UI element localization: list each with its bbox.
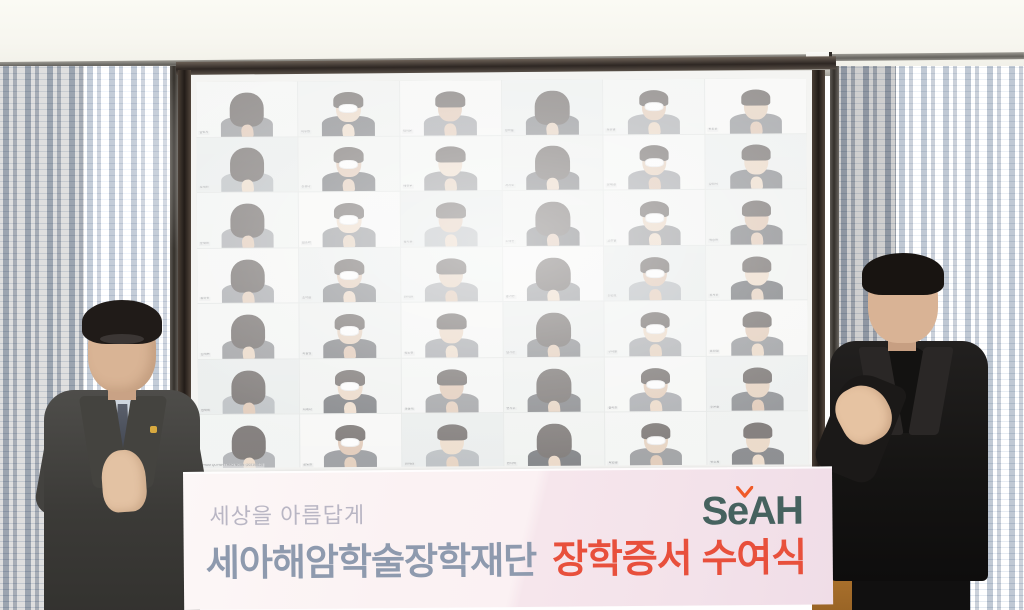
video-tile-participant bbox=[528, 424, 581, 468]
photo-scene: 김민지이수현박지은정하늘최준영한도윤오세진신유나배현우서지호문태경강민서윤채원임… bbox=[0, 0, 1024, 610]
video-tile: 황지훈 bbox=[400, 191, 501, 246]
video-tile-participant bbox=[426, 369, 479, 413]
video-tile-participant bbox=[324, 370, 377, 414]
video-tile: 변지수 bbox=[503, 357, 604, 412]
video-tile-name-label: 한도윤 bbox=[707, 127, 718, 131]
participant-hands bbox=[241, 291, 254, 304]
video-tile-name-label: 서지호 bbox=[504, 184, 515, 188]
participant-face-mask bbox=[646, 324, 665, 333]
video-tile-participant bbox=[221, 259, 274, 303]
video-tile-name-label: 안지완 bbox=[403, 296, 414, 300]
video-tile: 설하윤 bbox=[605, 357, 706, 412]
participant-hair bbox=[436, 91, 465, 107]
video-tile-participant bbox=[425, 313, 478, 357]
participant-hair bbox=[230, 259, 265, 293]
video-tile: 구자영 bbox=[605, 301, 706, 356]
participant-hair bbox=[231, 426, 266, 460]
video-tile: 최준영 bbox=[603, 79, 704, 134]
participant-hands bbox=[342, 179, 355, 192]
video-tile-name-label: 송가은 bbox=[505, 295, 516, 299]
video-tile-name-label: 남기준 bbox=[505, 351, 516, 355]
video-tile-participant bbox=[425, 202, 478, 246]
banner-organization: 세아해암학술장학재단 bbox=[206, 530, 537, 587]
video-tile: 강민서 bbox=[706, 134, 807, 189]
video-tile: 김민지 bbox=[196, 81, 297, 136]
video-tile-participant bbox=[730, 200, 783, 244]
video-tile-name-label: 노예린 bbox=[505, 240, 516, 244]
participant-hands bbox=[649, 344, 662, 357]
video-tile-participant bbox=[221, 204, 274, 248]
video-tile-participant bbox=[323, 314, 376, 358]
projection-screen: 김민지이수현박지은정하늘최준영한도윤오세진신유나배현우서지호문태경강민서윤채원임… bbox=[190, 70, 814, 478]
participant-hair bbox=[535, 91, 570, 125]
participant-hair bbox=[535, 202, 570, 236]
video-tile-participant bbox=[731, 312, 784, 356]
video-tile: 차예나 bbox=[300, 359, 401, 414]
participant-hair bbox=[537, 424, 572, 458]
video-tile: 엄태희 bbox=[198, 359, 299, 414]
video-tile-participant bbox=[424, 91, 477, 135]
video-tile-participant bbox=[425, 258, 478, 302]
caron-accent-icon bbox=[736, 486, 753, 498]
video-tile: 공도윤 bbox=[300, 414, 401, 469]
participant-hair bbox=[231, 315, 266, 349]
participant-face-mask bbox=[339, 104, 358, 113]
participant-face-mask bbox=[645, 158, 664, 167]
participant-hair bbox=[741, 145, 770, 161]
video-tile: 반소희 bbox=[707, 412, 808, 467]
video-tile-name-label: 김민지 bbox=[198, 131, 209, 135]
video-tile-participant bbox=[527, 257, 580, 301]
video-tile-participant bbox=[528, 368, 581, 412]
participant-hair bbox=[436, 147, 465, 163]
participant-hands bbox=[749, 121, 762, 134]
video-tile-name-label: 배현우 bbox=[402, 185, 413, 189]
participant-face-mask bbox=[645, 269, 664, 278]
video-tile: 표민정 bbox=[707, 301, 808, 356]
participant-hair bbox=[437, 369, 466, 385]
video-tile-name-label: 황지훈 bbox=[403, 240, 414, 244]
video-tile: 백승현 bbox=[706, 189, 807, 244]
participant-hair bbox=[742, 200, 771, 216]
video-tile-participant bbox=[222, 370, 275, 414]
participant-hair bbox=[742, 312, 771, 328]
participant-hands bbox=[750, 287, 763, 300]
video-tile-participant bbox=[323, 258, 376, 302]
banner-subtitle: 세상을 아름답게 bbox=[209, 497, 365, 530]
video-tile: 남기준 bbox=[503, 302, 604, 357]
participant-face-mask bbox=[647, 436, 666, 445]
video-tile: 마동석 bbox=[401, 358, 502, 413]
participant-hair bbox=[437, 314, 466, 330]
participant-hands bbox=[546, 122, 559, 135]
video-tile: 오세진 bbox=[196, 137, 297, 192]
video-tile-participant bbox=[629, 312, 682, 356]
participant-hair bbox=[535, 146, 570, 180]
participant-hands bbox=[546, 233, 559, 246]
video-tile-name-label: 하늘빛 bbox=[302, 352, 313, 356]
video-tile-participant bbox=[729, 89, 782, 133]
video-tile: 류서윤 bbox=[706, 245, 807, 300]
video-tile-name-label: 강민서 bbox=[708, 183, 719, 187]
video-tile: 진아라 bbox=[402, 414, 503, 469]
video-tile: 정하늘 bbox=[502, 79, 603, 134]
video-tile-participant bbox=[730, 256, 783, 300]
video-tile-participant bbox=[323, 203, 376, 247]
participant-hands bbox=[240, 124, 253, 137]
video-tile-name-label: 백승현 bbox=[708, 239, 719, 243]
video-tile-participant bbox=[526, 202, 579, 246]
video-tile-participant bbox=[732, 423, 785, 467]
participant-hands bbox=[648, 233, 661, 246]
participant-hair bbox=[743, 367, 772, 383]
seah-logo: SeAH bbox=[701, 489, 802, 535]
video-tile: 이수현 bbox=[298, 81, 399, 136]
video-tile-name-label: 주은총 bbox=[709, 405, 720, 409]
participant-hands bbox=[242, 346, 255, 359]
video-tile-name-label: 고은별 bbox=[606, 239, 617, 243]
banner-event-title: 장학증서 수여식 bbox=[552, 527, 806, 585]
video-tile: 조아름 bbox=[299, 247, 400, 302]
video-tile-participant bbox=[629, 368, 682, 412]
video-tile: PHAM QUYNH THAO NGAN (20210013) bbox=[198, 415, 299, 470]
participant-hands bbox=[648, 177, 661, 190]
video-tile-name-label: 구자영 bbox=[607, 350, 618, 354]
video-tile: 문태경 bbox=[604, 134, 705, 189]
participant-hair bbox=[436, 202, 465, 218]
participant-face-mask bbox=[646, 380, 665, 389]
chairman-lapel-pin bbox=[150, 426, 157, 433]
video-tile-name-label: 차예나 bbox=[302, 408, 313, 412]
representative-hair bbox=[862, 253, 944, 295]
participant-hands bbox=[750, 176, 763, 189]
participant-face-mask bbox=[339, 160, 358, 169]
video-tile: 임소라 bbox=[299, 192, 400, 247]
participant-hands bbox=[445, 345, 458, 358]
participant-face-mask bbox=[340, 271, 359, 280]
participant-face-mask bbox=[341, 382, 360, 391]
video-tile-name-label: 변지수 bbox=[506, 407, 517, 411]
participant-hands bbox=[751, 343, 764, 356]
video-tile: 노예린 bbox=[502, 191, 603, 246]
participant-hands bbox=[750, 232, 763, 245]
participant-hair bbox=[536, 257, 571, 291]
participant-hair bbox=[742, 256, 771, 272]
projected-image: 김민지이수현박지은정하늘최준영한도윤오세진신유나배현우서지호문태경강민서윤채원임… bbox=[196, 78, 808, 470]
video-tile: 유하진 bbox=[197, 248, 298, 303]
participant-hands bbox=[648, 121, 661, 134]
video-tile: 하늘빛 bbox=[299, 303, 400, 358]
participant-hair bbox=[437, 258, 466, 274]
video-tile-participant bbox=[322, 147, 375, 191]
video-tile: 윤채원 bbox=[197, 192, 298, 247]
video-tile-name-label: 설하윤 bbox=[607, 406, 618, 410]
person-representative bbox=[826, 255, 998, 610]
video-tile-participant bbox=[526, 146, 579, 190]
participant-hands bbox=[649, 288, 662, 301]
video-tile-name-label: 최준영 bbox=[606, 128, 617, 132]
video-conference-grid: 김민지이수현박지은정하늘최준영한도윤오세진신유나배현우서지호문태경강민서윤채원임… bbox=[196, 78, 808, 470]
video-tile: 심재현 bbox=[197, 304, 298, 359]
participant-hands bbox=[649, 399, 662, 412]
participant-hands bbox=[547, 344, 560, 357]
video-tile: 전민호 bbox=[604, 246, 705, 301]
video-tile-participant bbox=[731, 367, 784, 411]
video-tile-participant bbox=[527, 313, 580, 357]
video-tile-name-label: 전민호 bbox=[607, 295, 618, 299]
video-tile-participant bbox=[426, 425, 479, 469]
participant-face-mask bbox=[341, 438, 360, 447]
video-tile-participant bbox=[220, 92, 273, 136]
video-tile-participant bbox=[630, 423, 683, 467]
video-tile: 박지은 bbox=[400, 80, 501, 135]
event-banner: 세상을 아름답게 세아해암학술장학재단 장학증서 수여식 SeAH bbox=[183, 466, 833, 610]
participant-hands bbox=[242, 402, 255, 415]
video-tile-participant bbox=[526, 91, 579, 135]
video-tile-participant bbox=[730, 145, 783, 189]
video-tile-participant bbox=[221, 148, 274, 192]
video-tile-participant bbox=[629, 257, 682, 301]
participant-face-mask bbox=[644, 102, 663, 111]
video-tile-name-label: 신유나 bbox=[301, 186, 312, 190]
video-tile-name-label: 문태경 bbox=[606, 184, 617, 188]
video-tile-participant bbox=[424, 147, 477, 191]
participant-hands bbox=[444, 178, 457, 191]
video-tile: 원지석 bbox=[504, 413, 605, 468]
person-chairman bbox=[36, 300, 204, 610]
video-tile-participant bbox=[322, 92, 375, 136]
video-tile: 신유나 bbox=[298, 136, 399, 191]
video-tile: 주은총 bbox=[707, 356, 808, 411]
participant-hands bbox=[241, 235, 254, 248]
video-tile-name-label: 오세진 bbox=[199, 186, 210, 190]
video-tile-participant bbox=[628, 201, 681, 245]
video-tile: 탁민경 bbox=[605, 412, 706, 467]
video-tile-participant bbox=[222, 315, 275, 359]
video-tile-name-label: 표민정 bbox=[709, 350, 720, 354]
participant-hands bbox=[547, 400, 560, 413]
participant-hair bbox=[741, 89, 770, 105]
video-tile-name-label: 박지은 bbox=[402, 129, 413, 133]
participant-hair bbox=[743, 423, 772, 439]
participant-hands bbox=[241, 179, 254, 192]
participant-hands bbox=[751, 399, 764, 412]
participant-hands bbox=[343, 346, 356, 359]
video-tile-participant bbox=[324, 425, 377, 469]
participant-hair bbox=[230, 148, 265, 182]
participant-hands bbox=[546, 178, 559, 191]
video-tile: 배현우 bbox=[400, 136, 501, 191]
participant-hair bbox=[536, 313, 571, 347]
video-tile: 한도윤 bbox=[705, 78, 806, 133]
video-tile: 송가은 bbox=[503, 246, 604, 301]
video-tile: 고은별 bbox=[604, 190, 705, 245]
video-tile-name-label: 임소라 bbox=[301, 241, 312, 245]
chairman-face-highlight bbox=[100, 334, 144, 344]
video-tile-name-label: 곽도현 bbox=[403, 352, 414, 356]
participant-hair bbox=[229, 92, 264, 126]
participant-hands bbox=[445, 234, 458, 247]
video-tile-name-label: 마동석 bbox=[404, 407, 415, 411]
projection-screen-post-right bbox=[812, 70, 825, 482]
participant-hair bbox=[231, 370, 266, 404]
participant-hair bbox=[536, 368, 571, 402]
video-tile-participant bbox=[628, 145, 681, 189]
participant-hair bbox=[438, 425, 467, 441]
banner-headline: 세아해암학술장학재단 장학증서 수여식 bbox=[206, 527, 807, 588]
video-tile: 안지완 bbox=[401, 247, 502, 302]
video-tile-participant bbox=[628, 90, 681, 134]
video-tile-name-label: 정하늘 bbox=[504, 129, 515, 133]
participant-face-mask bbox=[645, 213, 664, 222]
video-tile-name-label: 류서윤 bbox=[709, 294, 720, 298]
video-tile: 곽도현 bbox=[401, 302, 502, 357]
participant-face-mask bbox=[340, 326, 359, 335]
participant-face-mask bbox=[340, 215, 359, 224]
participant-hair bbox=[230, 204, 265, 238]
video-tile: 서지호 bbox=[502, 135, 603, 190]
video-tile-name-label: 윤채원 bbox=[199, 242, 210, 246]
video-tile-name-label: 이수현 bbox=[300, 130, 311, 134]
video-tile-name-label: 조아름 bbox=[301, 297, 312, 301]
